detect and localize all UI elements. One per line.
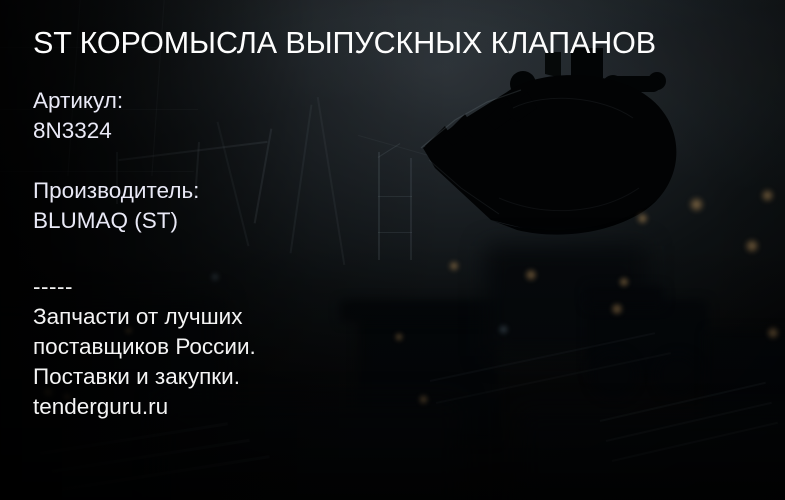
manufacturer-field: Производитель: BLUMAQ (ST) — [33, 176, 199, 236]
tagline-line: Поставки и закупки. — [33, 362, 463, 392]
page-title: ST КОРОМЫСЛА ВЫПУСКНЫХ КЛАПАНОВ — [33, 27, 759, 59]
divider: ----- — [33, 272, 73, 302]
article-label: Артикул: — [33, 86, 123, 116]
manufacturer-label: Производитель: — [33, 176, 199, 206]
product-banner-card: ST КОРОМЫСЛА ВЫПУСКНЫХ КЛАПАНОВ Артикул:… — [0, 0, 785, 500]
tagline-line: поставщиков России. — [33, 332, 463, 362]
card-content: ST КОРОМЫСЛА ВЫПУСКНЫХ КЛАПАНОВ Артикул:… — [33, 0, 763, 500]
manufacturer-value: BLUMAQ (ST) — [33, 206, 199, 236]
article-value: 8N3324 — [33, 116, 123, 146]
article-field: Артикул: 8N3324 — [33, 86, 123, 146]
site-url: tenderguru.ru — [33, 392, 463, 422]
tagline-block: Запчасти от лучших поставщиков России. П… — [33, 302, 463, 422]
tagline-line: Запчасти от лучших — [33, 302, 463, 332]
bokeh-light — [766, 326, 780, 340]
